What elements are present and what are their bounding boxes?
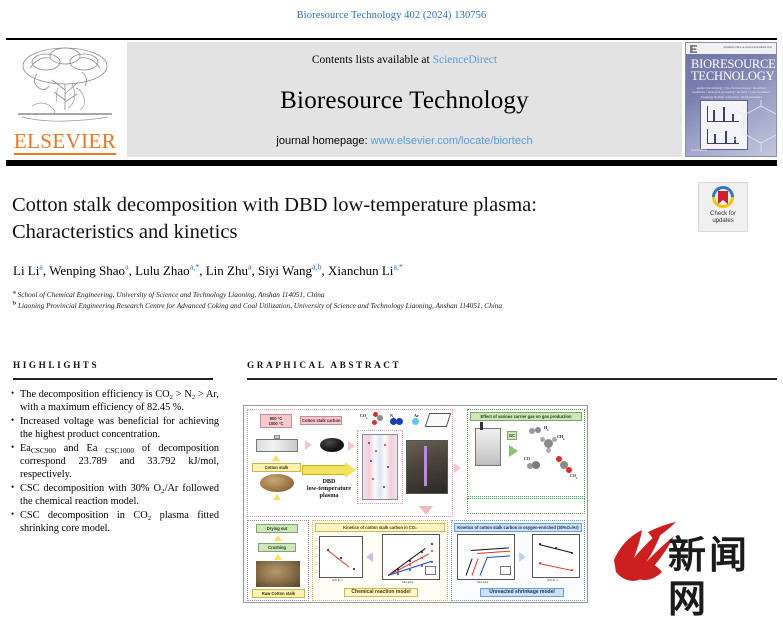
ga-axis-label-time-co2: Time (min) bbox=[402, 581, 413, 584]
ga-plasma-tube-icon bbox=[362, 434, 398, 500]
ga-product-ch4-h-icon bbox=[546, 448, 551, 453]
ga-furnace-icon bbox=[256, 439, 298, 452]
author-affiliation-marker: a,* bbox=[190, 263, 200, 272]
highlights-heading: HIGHLIGHTS bbox=[13, 360, 99, 370]
homepage-line: journal homepage: www.elsevier.com/locat… bbox=[276, 135, 532, 147]
cover-bottom-note: ScienceDirect bbox=[691, 149, 707, 152]
ga-furnace-port-icon bbox=[274, 435, 280, 439]
ga-label-gc: GC bbox=[507, 431, 517, 440]
author-name[interactable]: Li Li bbox=[13, 263, 39, 278]
ga-product-label-co: CO bbox=[524, 456, 530, 461]
affiliation-item: a School of Chemical Engineering, Univer… bbox=[13, 290, 703, 301]
ga-label-kinetics-co2: Kinetics of cotton stalk carbon in CO₂ bbox=[315, 523, 445, 532]
graphical-abstract-heading: GRAPHICAL ABSTRACT bbox=[247, 360, 401, 370]
author-affiliation-marker: a,* bbox=[393, 263, 403, 272]
ga-arrow-to-carbon bbox=[305, 440, 312, 450]
affiliation-list: a School of Chemical Engineering, Univer… bbox=[13, 290, 703, 311]
author-affiliation-marker: a bbox=[125, 263, 129, 272]
ga-gas-label-co2: CO2 bbox=[360, 413, 367, 420]
ga-panel-gaseous-product bbox=[467, 498, 585, 514]
author-name[interactable]: Lin Zhu bbox=[206, 263, 248, 278]
author-name[interactable]: Siyi Wang bbox=[258, 263, 312, 278]
ga-molecule-ar-icon bbox=[412, 418, 419, 425]
cover-hexagon-icon bbox=[734, 100, 777, 154]
ga-arrow-left-fit bbox=[366, 552, 373, 562]
ga-arrow-gc-to-products bbox=[509, 445, 518, 457]
highlight-item: Increased voltage was beneficial for ach… bbox=[11, 415, 219, 442]
elsevier-wordmark: ELSEVIER bbox=[14, 131, 116, 155]
crossmark-label-line2: updates bbox=[699, 218, 747, 225]
highlight-item: EaCSC900 and Ea CSC1000 of decomposition… bbox=[11, 442, 219, 482]
ga-axis-label-inverse-t: (1/T) (K⁻¹) bbox=[332, 579, 343, 582]
ga-label-cotton-stalk-carbon: Cotton stalk carbon bbox=[300, 416, 342, 425]
journal-title: Bioresource Technology bbox=[280, 87, 529, 115]
ga-product-label-ch4: CH4 bbox=[557, 434, 564, 441]
running-head: Bioresource Technology 402 (2024) 130756 bbox=[0, 10, 783, 21]
contents-prefix: Contents lists available at bbox=[312, 54, 430, 66]
article-title-line1: Cotton stalk decomposition with DBD low-… bbox=[12, 192, 662, 219]
article-title: Cotton stalk decomposition with DBD low-… bbox=[12, 192, 662, 246]
crossmark-label-line1: Check for bbox=[699, 211, 747, 218]
cover-title: BIORESOURCE TECHNOLOGY bbox=[691, 58, 772, 82]
ga-product-h2-b-icon bbox=[535, 427, 541, 433]
affiliation-marker: b bbox=[13, 300, 16, 306]
author-affiliation-marker: a,b bbox=[312, 263, 322, 272]
ga-chart-arrhenius-o2 bbox=[532, 534, 580, 578]
ga-product-label-co2: CO2 bbox=[570, 473, 577, 480]
ga-label-chemical-reaction-model: Chemical reaction model bbox=[344, 588, 418, 597]
ga-product-ch4-h-icon bbox=[540, 437, 545, 442]
ga-product-label-h2: H2 bbox=[544, 425, 549, 432]
cover-subtitle: applied microbiology • bio-characterizat… bbox=[692, 86, 771, 99]
ga-chart-conversion-o2 bbox=[457, 534, 515, 580]
ga-label-crushing: Crushing bbox=[258, 543, 296, 552]
ga-arrow-right-fit bbox=[519, 552, 526, 562]
ga-gas-cylinder-icon bbox=[425, 413, 452, 427]
elsevier-logo: ELSEVIER bbox=[6, 42, 124, 157]
ga-label-effect-gas: Effect of various carrier gas on gas pro… bbox=[470, 412, 582, 421]
ga-chart-conversion-co2 bbox=[382, 534, 440, 580]
news-site-logo: 新闻网 bbox=[608, 518, 778, 600]
crossmark-icon bbox=[710, 186, 736, 210]
article-title-line2: Characteristics and kinetics bbox=[12, 219, 662, 246]
ga-arrow-to-gc bbox=[454, 463, 461, 473]
elsevier-tree-icon bbox=[12, 44, 118, 128]
journal-cover-thumbnail: Available online at www.sciencedirect.co… bbox=[685, 42, 777, 157]
masthead-center-panel: Contents lists available at ScienceDirec… bbox=[127, 42, 682, 157]
crossmark-check-for-updates-badge[interactable]: Check for updates bbox=[698, 182, 748, 232]
ga-label-dbd: DBDlow-temperatureplasma bbox=[302, 478, 356, 499]
journal-masthead: ELSEVIER Contents lists available at Sci… bbox=[6, 42, 777, 157]
ga-cotton-stalk-photo bbox=[260, 474, 294, 492]
ga-arrow-up-crushing bbox=[274, 554, 282, 560]
ga-reactor-photo bbox=[406, 440, 448, 494]
masthead-bottom-rule bbox=[6, 160, 777, 166]
graphical-abstract-figure: 900 °C 1000 °C Cotton stalk carbon Cotto… bbox=[243, 405, 588, 603]
ga-label-unreacted-shrinkage-model: Unreacted shrinkage model bbox=[480, 588, 564, 597]
ga-label-raw-cotton-stalk: Raw Cotton stalk bbox=[252, 589, 305, 598]
highlight-item: CSC decomposition in CO₂ plasma fitted s… bbox=[11, 509, 219, 536]
graphical-abstract-rule bbox=[247, 378, 777, 380]
ga-raw-stalk-photo bbox=[256, 561, 300, 587]
affiliation-marker: a bbox=[13, 290, 16, 296]
author-affiliation-marker: a bbox=[39, 263, 43, 272]
ga-label-temperature: 900 °C 1000 °C bbox=[260, 414, 292, 428]
journal-homepage-link[interactable]: www.elsevier.com/locate/biortech bbox=[371, 135, 533, 147]
ga-arrow-up-from-raw bbox=[273, 494, 281, 500]
ga-arrow-up-drying bbox=[274, 535, 282, 541]
author-affiliation-marker: a bbox=[248, 263, 252, 272]
cover-elsevier-mark-icon bbox=[690, 45, 697, 53]
ga-chart-arrhenius-co2 bbox=[319, 536, 363, 578]
sciencedirect-link[interactable]: ScienceDirect bbox=[433, 54, 498, 66]
ga-axis-label-time-o2: Time (min) bbox=[477, 581, 488, 584]
ga-carbon-blob-icon bbox=[320, 438, 344, 452]
ga-label-drying-out: Drying out bbox=[256, 524, 298, 533]
ga-axis-label-inverse-t-2: (1/T) (K⁻¹) bbox=[547, 579, 558, 582]
ga-plasma-glow bbox=[424, 446, 427, 486]
ga-arrow-to-plasma bbox=[348, 441, 355, 451]
highlights-list: The decomposition efficiency is CO₂ > N₂… bbox=[11, 388, 219, 535]
ga-temp-line2: 1000 °C bbox=[262, 421, 290, 426]
homepage-prefix: journal homepage: bbox=[276, 135, 367, 147]
cover-availability-note: Available online at www.sciencedirect.co… bbox=[723, 46, 772, 49]
highlight-item: The decomposition efficiency is CO₂ > N₂… bbox=[11, 388, 219, 415]
highlight-item: CSC decomposition with 30% O₂/Ar followe… bbox=[11, 482, 219, 509]
ga-big-arrow-head bbox=[345, 462, 356, 478]
author-name[interactable]: Lulu Zhao bbox=[135, 263, 190, 278]
ga-molecule-o2-icon bbox=[372, 420, 377, 425]
author-list: Li Lia, Wenping Shaoa, Lulu Zhaoa,*, Lin… bbox=[13, 262, 693, 279]
ga-label-kinetics-o2: Kinetics of cotton stalk carbon in oxyge… bbox=[454, 523, 582, 532]
ga-arrow-up-stalk bbox=[272, 455, 280, 461]
ga-big-arrow-body bbox=[302, 465, 346, 475]
author-name[interactable]: Wenping Shao bbox=[49, 263, 125, 278]
ga-product-co-o-icon bbox=[532, 461, 540, 469]
highlights-rule bbox=[13, 378, 213, 380]
news-logo-text: 新闻网 bbox=[668, 534, 778, 622]
ga-gc-device-photo bbox=[475, 428, 501, 466]
masthead-top-rule bbox=[6, 38, 777, 40]
ga-gc-column-icon bbox=[480, 422, 483, 430]
ga-molecule-c-icon bbox=[377, 415, 383, 421]
author-name[interactable]: Xianchun Li bbox=[328, 263, 393, 278]
ga-arrow-down-to-kinetics bbox=[419, 506, 433, 515]
crossmark-label: Check for updates bbox=[699, 211, 747, 225]
cover-title-line2: TECHNOLOGY bbox=[691, 70, 772, 82]
affiliation-item: b Liaoning Provincial Engineering Resear… bbox=[13, 301, 703, 312]
contents-line: Contents lists available at ScienceDirec… bbox=[312, 54, 497, 66]
ga-label-cotton-stalk: Cotton stalk bbox=[252, 463, 301, 472]
ga-molecule-n2-icon bbox=[396, 418, 403, 425]
